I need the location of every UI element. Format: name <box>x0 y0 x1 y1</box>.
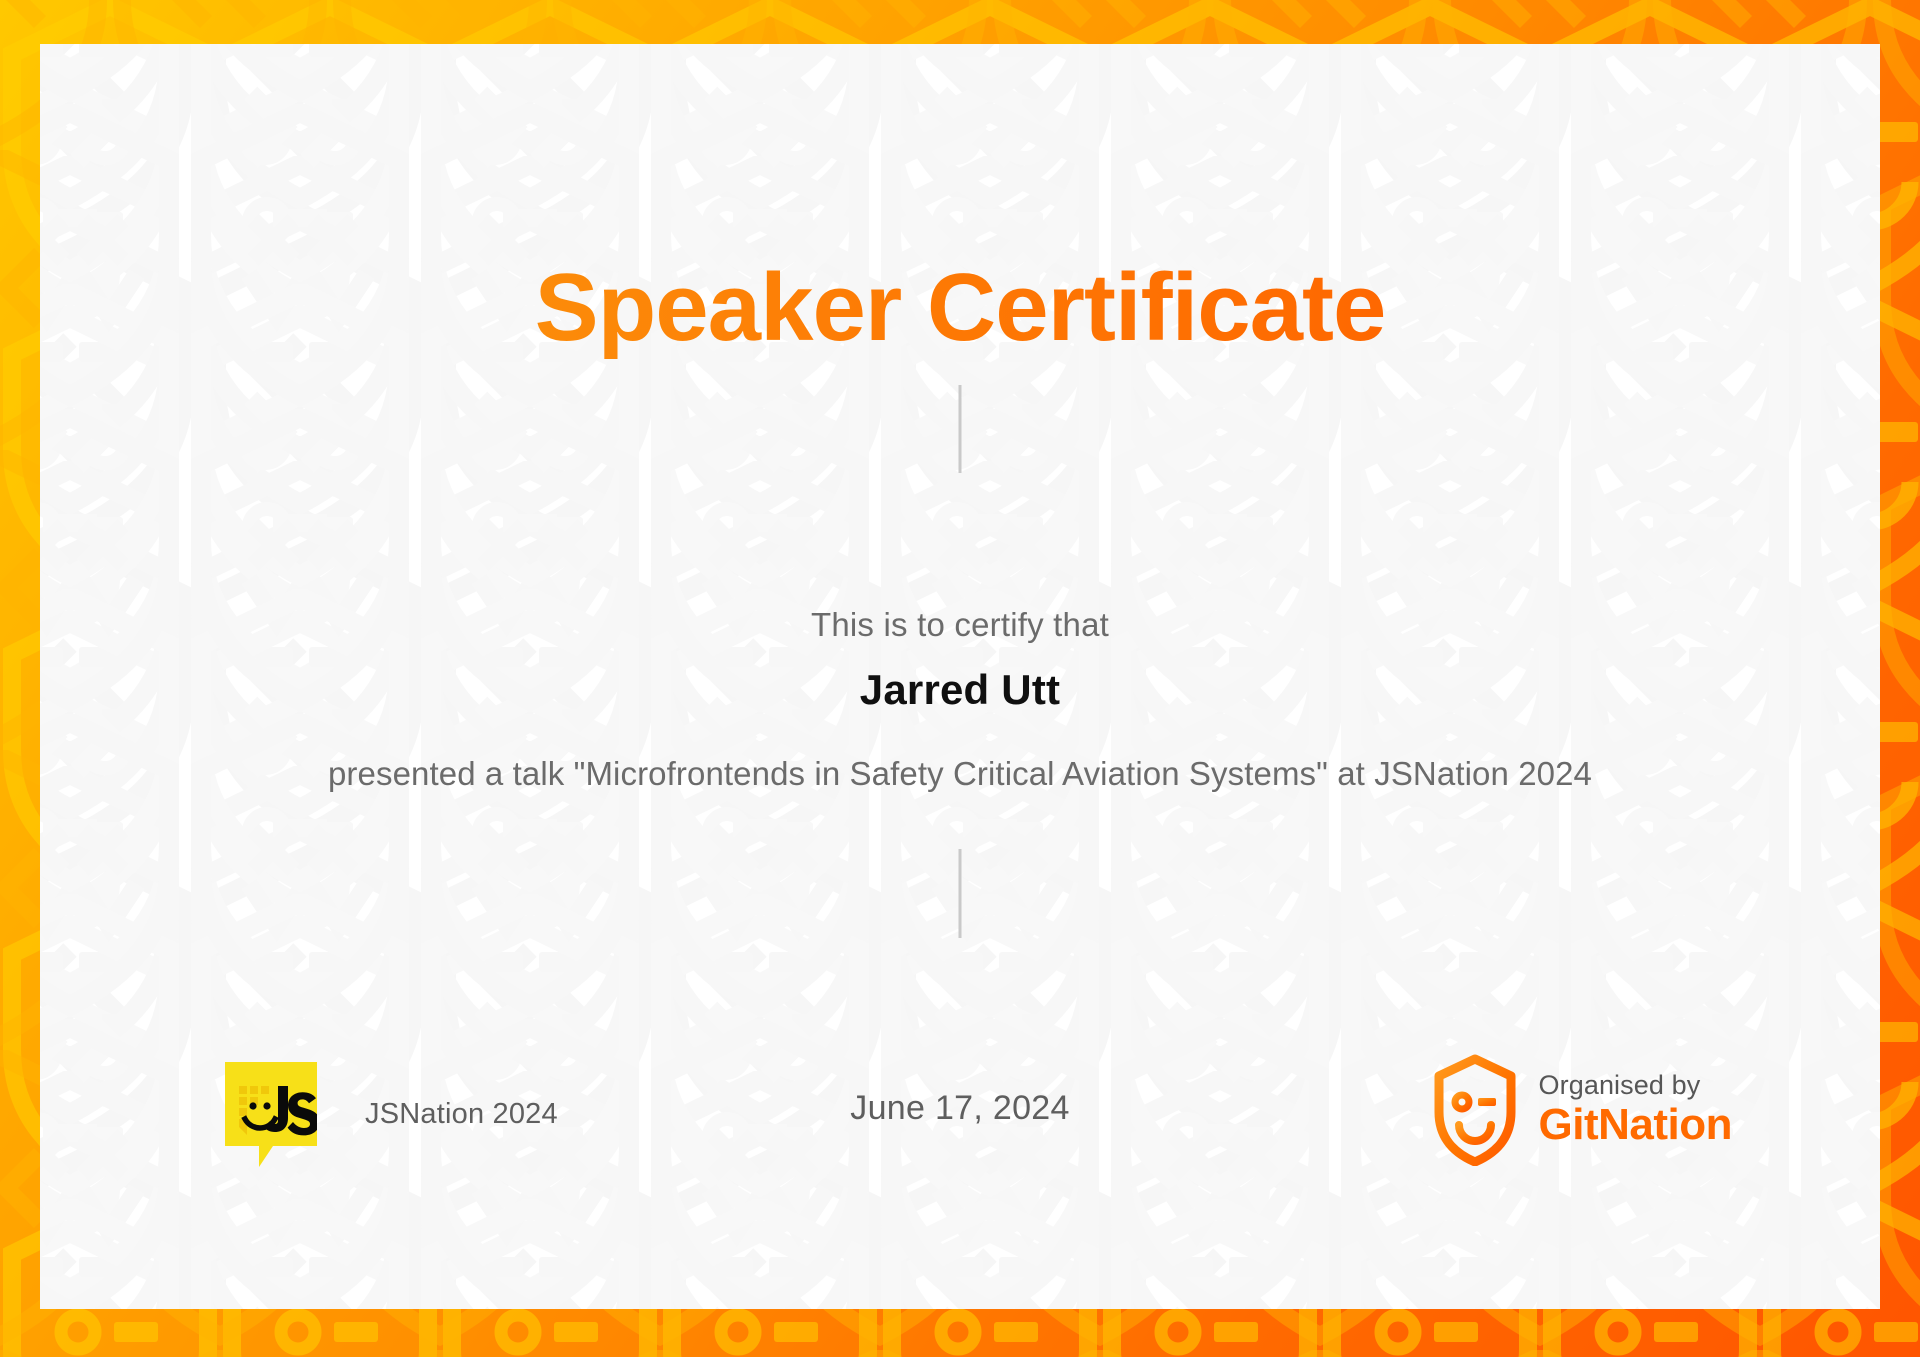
organiser-name: GitNation <box>1539 1100 1732 1149</box>
organiser-text: Organised by GitNation <box>1539 1070 1732 1150</box>
recipient-name: Jarred Utt <box>40 666 1880 714</box>
organised-by-label: Organised by <box>1539 1070 1732 1100</box>
page-title: Speaker Certificate <box>40 258 1880 359</box>
organiser-block: Organised by GitNation <box>1433 1054 1732 1166</box>
achievement-text: presented a talk "Microfrontends in Safe… <box>240 749 1680 799</box>
certificate-card: Speaker Certificate This is to certify t… <box>40 44 1880 1309</box>
divider-top <box>959 385 962 473</box>
gitnation-shield-face-icon <box>1433 1054 1517 1166</box>
certificate-footer: JSNation 2024 June 17, 2024 <box>40 1044 1880 1234</box>
certify-line: This is to certify that <box>40 606 1880 644</box>
certificate-page: Speaker Certificate This is to certify t… <box>0 0 1920 1357</box>
divider-bottom <box>959 849 962 938</box>
